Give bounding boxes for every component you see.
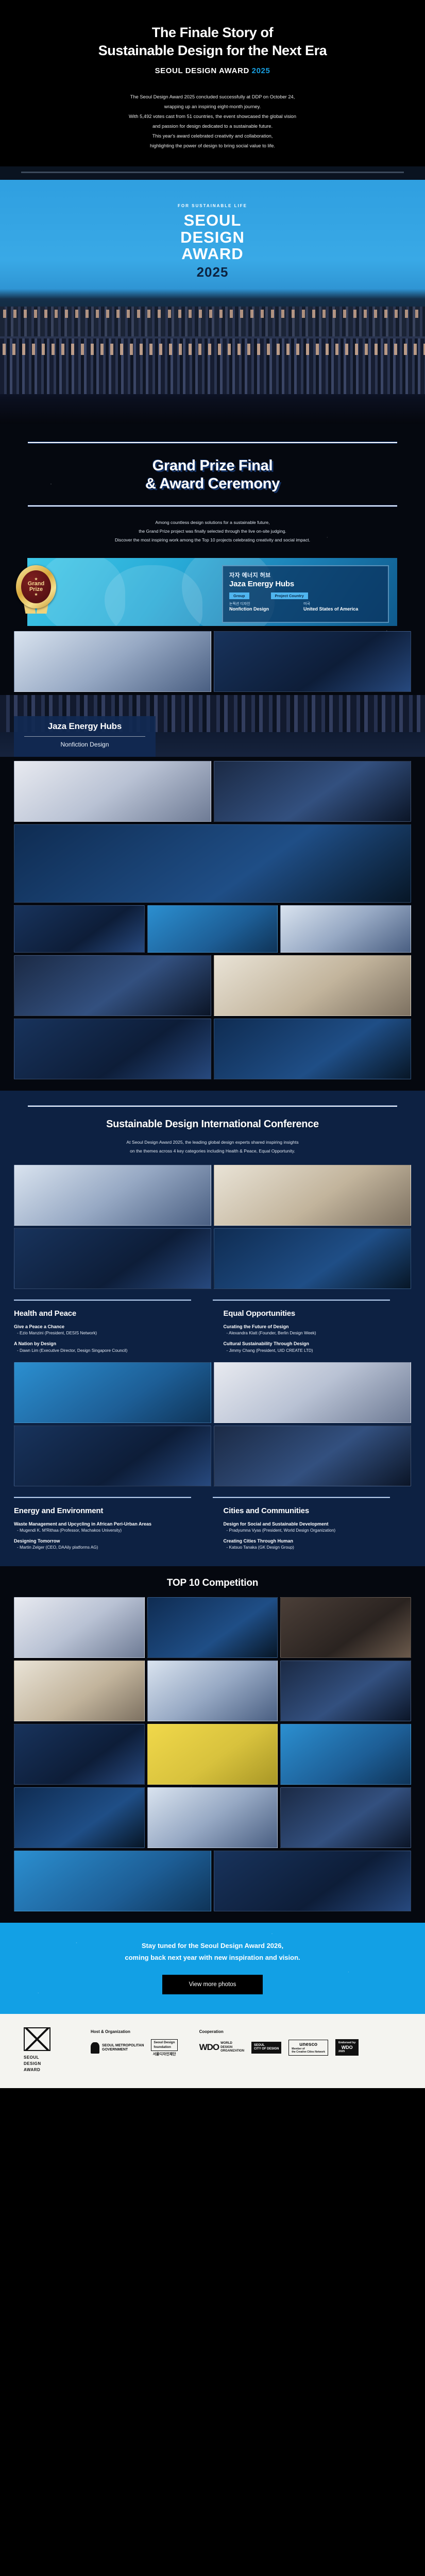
winner-group-en: Nonfiction Design: [229, 606, 296, 612]
newsletter-page: The Finale Story of Sustainable Design f…: [0, 0, 425, 2088]
session-item: Give a Peace a Chance - Ezio Manzini (Pr…: [14, 1324, 202, 1335]
stage-screen-logo: FOR SUSTAINABLE LIFE SEOUL DESIGN AWARD …: [0, 204, 425, 280]
category-energy-and-environment: Energy and Environment Waste Management …: [14, 1506, 202, 1555]
footer-host-column: Host & Organization SEOUL METROPOLITAN G…: [91, 2029, 178, 2057]
category-cities-and-communities: Cities and Communities Design for Social…: [224, 1506, 412, 1555]
ceremony-photo: [14, 824, 411, 903]
top10-photo-row-3: [0, 1724, 425, 1785]
divider-under-title: [28, 505, 397, 507]
gp-sub-2: the Grand Prize project was finally sele…: [139, 529, 286, 534]
wdo-line1: WORLD: [220, 2042, 244, 2046]
lede-line-1: The Seoul Design Award 2025 concluded su…: [130, 94, 295, 99]
winner-caption-title: Jaza Energy Hubs: [14, 721, 156, 732]
session-speaker: - Alexandra Klatt (Founder, Berlin Desig…: [224, 1331, 412, 1335]
ceremony-photo-row-3: [0, 824, 425, 903]
unesco-logo-icon: unesco Member of the Creative Cities Net…: [288, 2040, 328, 2056]
session-item: Cultural Sustainability Through Design -…: [224, 1341, 412, 1352]
session-title: Designing Tomorrow: [14, 1538, 202, 1544]
stage-crowd: [0, 307, 425, 336]
session-title: Design for Social and Sustainable Develo…: [224, 1521, 412, 1527]
hero-title-line2: Sustainable Design for the Next Era: [0, 42, 425, 60]
top10-photo: [280, 1724, 411, 1785]
grand-prize-title-line1: Grand Prize Final: [0, 457, 425, 474]
divider-conference-top: [28, 1105, 397, 1107]
winner-caption-block: Jaza Energy Hubs Nonfiction Design: [0, 695, 425, 757]
ceremony-photo: [147, 905, 278, 953]
session-title: Waste Management and Upcycling in Africa…: [14, 1521, 202, 1527]
wdo-line3: ORGANIZATION: [220, 2049, 244, 2054]
top10-photo: [280, 1597, 411, 1658]
ceremony-photo: [14, 1019, 211, 1079]
session-item: A Nation by Design - Dawn Lim (Executive…: [14, 1341, 202, 1352]
unesco-line3: the Creative Cities Network: [292, 2050, 325, 2054]
ceremony-photo: [214, 955, 411, 1016]
conf-sub-2: on the themes across 4 key categories in…: [130, 1148, 295, 1154]
conference-description: At Seoul Design Award 2025, the leading …: [0, 1138, 425, 1156]
session-title: Creating Cities Through Human: [224, 1538, 412, 1544]
footer-brand-line2: DESIGN: [24, 2061, 91, 2067]
session-speaker: - Mugendi K. M'Rithaa (Professor, Machak…: [14, 1528, 202, 1533]
top10-photo: [14, 1787, 145, 1848]
endorsed-line3: 2025: [338, 2050, 355, 2054]
session-item: Creating Cities Through Human - Katsuo T…: [224, 1538, 412, 1550]
footer-logo-columns: Host & Organization SEOUL METROPOLITAN G…: [91, 2027, 359, 2057]
top10-photo-row-2: [0, 1660, 425, 1721]
category-title: Equal Opportunities: [224, 1309, 412, 1318]
grand-prize-badge-icon: ★ Grand Prize ★: [12, 559, 60, 615]
category-row-2: Energy and Environment Waste Management …: [0, 1506, 425, 1555]
top10-photo-row-1: [0, 1597, 425, 1658]
top10-photo: [14, 1851, 211, 1911]
lede-line-4: and passion for design dedicated to a su…: [152, 124, 273, 129]
session-title: Curating the Future of Design: [224, 1324, 412, 1330]
category-health-and-peace: Health and Peace Give a Peace a Chance -…: [14, 1309, 202, 1358]
footer-brand-line3: AWARD: [24, 2067, 91, 2073]
footer-brand-line1: SEOUL: [24, 2055, 91, 2061]
conference-photo: [214, 1426, 411, 1486]
sdf-line2: foundation: [154, 2045, 175, 2049]
conference-photo-row-2: [0, 1228, 425, 1289]
conf-sub-1: At Seoul Design Award 2025, the leading …: [126, 1140, 298, 1145]
ceremony-photo-row-4: [0, 905, 425, 953]
unesco-name: unesco: [292, 2042, 325, 2047]
hero-description: The Seoul Design Award 2025 concluded su…: [0, 92, 425, 151]
top10-title: TOP 10 Competition: [0, 1566, 425, 1597]
wdo-abbr: WDO: [199, 2042, 219, 2053]
session-item: Waste Management and Upcycling in Africa…: [14, 1521, 202, 1533]
session-title: Give a Peace a Chance: [14, 1324, 202, 1330]
footer-brand: SEOUL DESIGN AWARD: [13, 2027, 91, 2073]
session-speaker: - Ezio Manzini (President, DESIS Network…: [14, 1331, 202, 1335]
screen-line-seoul: SEOUL: [0, 212, 425, 229]
ceremony-photo: [280, 905, 411, 953]
top10-photo: [214, 1851, 411, 1911]
label-project-country: Project Country: [271, 592, 308, 599]
winner-caption-subtitle: Nonfiction Design: [14, 741, 156, 748]
screen-line-award: AWARD: [0, 246, 425, 262]
session-speaker: - Pradyumna Vyas (President, World Desig…: [224, 1528, 412, 1533]
ceremony-photo: [14, 955, 211, 1016]
top10-photo: [14, 1660, 145, 1721]
hero-title-line1: The Finale Story of: [0, 24, 425, 42]
scod-line1: SEOUL: [254, 2044, 279, 2048]
winner-country-kr: 미국: [303, 601, 370, 606]
award-wordmark: SEOUL DESIGN AWARD 2025: [0, 66, 425, 75]
grand-prize-description: Among countless design solutions for a s…: [0, 518, 425, 545]
sdf-line1: Seoul Design: [154, 2041, 175, 2045]
conference-photo: [14, 1362, 211, 1423]
scod-line2: CITY OF DESIGN: [254, 2047, 279, 2052]
gp-sub-3: Discover the most inspiring work among t…: [115, 537, 310, 543]
seoul-city-of-design-logo-icon: SEOUL CITY OF DESIGN: [251, 2042, 281, 2054]
footer-cooperation-column: Cooperation WDO WORLD DESIGN ORGANIZATIO…: [199, 2029, 359, 2057]
category-equal-opportunities: Equal Opportunities Curating the Future …: [224, 1309, 412, 1358]
sdf-line3: 서울디자인재단: [152, 2053, 176, 2057]
session-speaker: - Martin Zelger (CEO, DAAily platforms A…: [14, 1545, 202, 1550]
ceremony-photo: [214, 761, 411, 822]
screen-line-design: DESIGN: [0, 229, 425, 246]
label-group: Group: [229, 592, 249, 599]
conference-photo-row-1: [0, 1165, 425, 1226]
session-item: Design for Social and Sustainable Develo…: [224, 1521, 412, 1533]
session-title: A Nation by Design: [14, 1341, 202, 1347]
stage-photo: FOR SUSTAINABLE LIFE SEOUL DESIGN AWARD …: [0, 166, 425, 336]
conference-photo-row-3: [0, 1362, 425, 1423]
top10-photo: [14, 1724, 145, 1785]
top10-photo: [280, 1787, 411, 1848]
category-rules-row-1: [0, 1299, 425, 1301]
category-title: Cities and Communities: [224, 1506, 412, 1515]
award-year: 2025: [252, 66, 270, 75]
seoul-design-foundation-logo-icon: Seoul Design foundation 서울디자인재단: [151, 2039, 177, 2057]
ceremony-photo: [14, 761, 211, 822]
ceremony-photo: [214, 631, 411, 692]
category-rules-row-2: [0, 1497, 425, 1498]
smg-line2: GOVERNMENT: [102, 2048, 144, 2053]
cta-section: Stay tuned for the Seoul Design Award 20…: [0, 1923, 425, 2014]
conference-photo: [14, 1426, 211, 1486]
lede-line-3: With 5,492 votes cast from 51 countries,…: [129, 114, 296, 119]
lede-line-5: This year's award celebrated creativity …: [152, 133, 273, 139]
lede-line-2: wrapping up an inspiring eight-month jou…: [164, 104, 261, 109]
category-title: Energy and Environment: [14, 1506, 202, 1515]
conference-photo: [14, 1165, 211, 1226]
gp-sub-1: Among countless design solutions for a s…: [155, 520, 269, 525]
winner-info-card: 자자 에너지 허브 Jaza Energy Hubs Group Project…: [222, 565, 389, 623]
hero-section: The Finale Story of Sustainable Design f…: [0, 0, 425, 166]
group-photo: [0, 336, 425, 424]
session-item: Curating the Future of Design - Alexandr…: [224, 1324, 412, 1335]
page-title: The Finale Story of Sustainable Design f…: [0, 24, 425, 59]
session-title: Cultural Sustainability Through Design: [224, 1341, 412, 1347]
ceremony-photo-row-6: [0, 1019, 425, 1091]
winner-country-en: United States of America: [303, 606, 370, 612]
conference-title: Sustainable Design International Confere…: [0, 1118, 425, 1131]
top10-photo: [280, 1660, 411, 1721]
category-row-1: Health and Peace Give a Peace a Chance -…: [0, 1309, 425, 1358]
seoul-metropolitan-government-logo-icon: SEOUL METROPOLITAN GOVERNMENT: [91, 2042, 144, 2054]
top10-photo: [147, 1724, 278, 1785]
wdo-line2: DESIGN: [220, 2046, 244, 2050]
ceremony-photo: [14, 905, 145, 953]
session-item: Designing Tomorrow - Martin Zelger (CEO,…: [14, 1538, 202, 1550]
view-more-photos-button[interactable]: View more photos: [162, 1975, 263, 1994]
session-speaker: - Dawn Lim (Executive Director, Design S…: [14, 1348, 202, 1353]
ceremony-photo: [14, 631, 211, 692]
lede-line-6: highlighting the power of design to brin…: [150, 143, 275, 148]
conference-photo-row-4: [0, 1426, 425, 1486]
conference-photo: [214, 1362, 411, 1423]
conference-photo: [14, 1228, 211, 1289]
category-title: Health and Peace: [14, 1309, 202, 1318]
session-speaker: - Katsuo Tanaka (GK Design Group): [224, 1545, 412, 1550]
top10-photo: [147, 1787, 278, 1848]
cta-message: Stay tuned for the Seoul Design Award 20…: [0, 1940, 425, 1964]
winner-caption-card: Jaza Energy Hubs Nonfiction Design: [14, 716, 156, 757]
badge-star-bottom-icon: ★: [35, 593, 38, 597]
winner-name-en: Jaza Energy Hubs: [229, 580, 382, 588]
top10-section: TOP 10 Competition: [0, 1566, 425, 1923]
divider-top: [28, 442, 397, 444]
ceremony-photo-row-2: [0, 761, 425, 822]
endorsed-by-wdo-logo-icon: Endorsed by WDO 2025: [335, 2039, 359, 2056]
smg-line1: SEOUL METROPOLITAN: [102, 2044, 144, 2048]
top10-photo-row-4: [0, 1787, 425, 1848]
footer: SEOUL DESIGN AWARD Host & Organization S…: [0, 2014, 425, 2088]
screen-tagline: FOR SUSTAINABLE LIFE: [0, 204, 425, 208]
conference-photo: [214, 1165, 411, 1226]
award-name: SEOUL DESIGN AWARD: [155, 66, 252, 75]
winner-screen-photo: 자자 에너지 허브 Jaza Energy Hubs Group Project…: [27, 558, 397, 626]
seoul-design-award-logo-icon: [24, 2027, 50, 2051]
cta-line-1: Stay tuned for the Seoul Design Award 20…: [142, 1942, 283, 1950]
badge-line-2: Prize: [29, 587, 43, 593]
winner-group-kr: 논픽션 디자인: [229, 601, 296, 606]
grand-prize-title-line2: & Award Ceremony: [0, 475, 425, 493]
cta-line-2: coming back next year with new inspirati…: [125, 1954, 300, 1961]
conference-section: Sustainable Design International Confere…: [0, 1091, 425, 1566]
endorsed-line1: Endorsed by: [338, 2041, 355, 2045]
top10-photo: [147, 1597, 278, 1658]
winner-name-kr: 자자 에너지 허브: [229, 571, 382, 579]
grand-prize-section: Grand Prize Final & Award Ceremony Among…: [0, 424, 425, 1091]
ceremony-photo-row-5: [0, 955, 425, 1016]
stage-truss: [0, 166, 425, 180]
host-organization-label: Host & Organization: [91, 2029, 178, 2034]
screen-year: 2025: [0, 264, 425, 280]
wdo-logo-icon: WDO WORLD DESIGN ORGANIZATION: [199, 2042, 244, 2054]
cooperation-label: Cooperation: [199, 2029, 359, 2034]
grand-prize-title: Grand Prize Final & Award Ceremony: [0, 457, 425, 492]
ceremony-photo: [214, 1019, 411, 1079]
top10-photo: [147, 1660, 278, 1721]
session-speaker: - Jimmy Chang (President, UID CREATE LTD…: [224, 1348, 412, 1353]
top10-photo-row-5: [0, 1851, 425, 1911]
ceremony-photo-row-1: [0, 631, 425, 692]
top10-photo: [14, 1597, 145, 1658]
conference-photo: [214, 1228, 411, 1289]
endorsed-line2: WDO: [338, 2045, 355, 2050]
winner-banner: 자자 에너지 허브 Jaza Energy Hubs Group Project…: [0, 554, 425, 626]
